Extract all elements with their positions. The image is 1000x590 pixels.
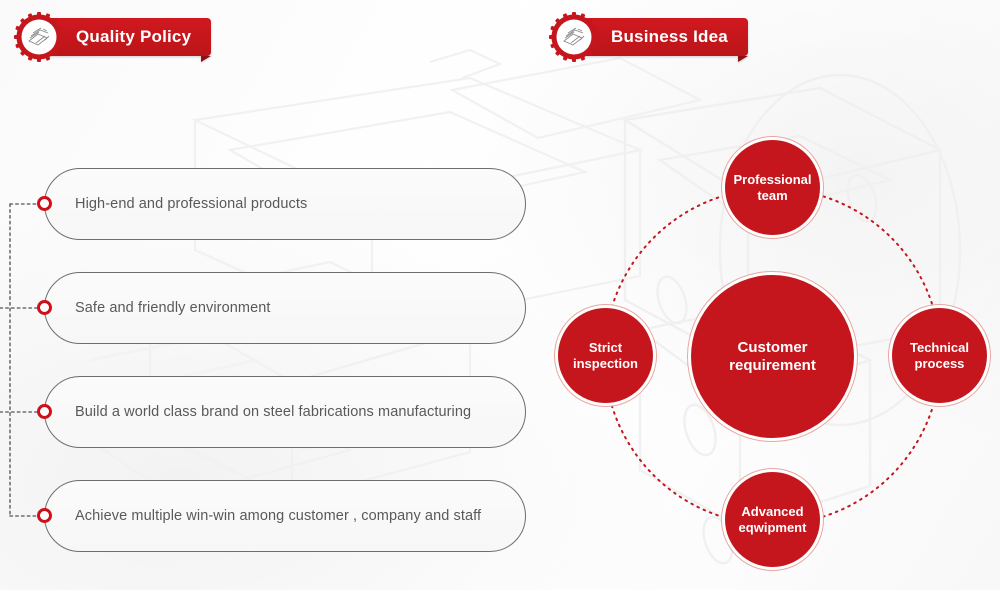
policy-item-label: Achieve multiple win-win among customer … (75, 508, 481, 524)
idea-node-line1: Technical (910, 340, 969, 355)
idea-node-center[interactable]: Customer requirement (691, 275, 854, 438)
idea-node-line1: Customer (737, 339, 807, 356)
business-idea-ribbon: Business Idea (573, 18, 748, 56)
idea-node-line2: process (915, 356, 965, 371)
policy-item-label: Build a world class brand on steel fabri… (75, 404, 471, 420)
quality-policy-title: Quality Policy (76, 27, 191, 47)
policy-marker-1 (37, 196, 52, 211)
policy-item-label: High-end and professional products (75, 196, 307, 212)
idea-node-strict-inspection[interactable]: Strict inspection (558, 308, 653, 403)
policy-item-1[interactable]: High-end and professional products (44, 168, 526, 240)
gear-sketch-icon (14, 12, 64, 62)
idea-node-label: Technical process (904, 340, 975, 371)
idea-node-line1: Strict (589, 340, 622, 355)
idea-node-label: Strict inspection (567, 340, 644, 371)
policy-item-3[interactable]: Build a world class brand on steel fabri… (44, 376, 526, 448)
idea-node-line2: requirement (729, 357, 816, 374)
idea-node-label: Customer requirement (723, 339, 822, 374)
idea-node-label: Advanced eqwipment (733, 504, 813, 535)
policy-marker-4 (37, 508, 52, 523)
business-idea-title: Business Idea (611, 27, 728, 47)
gear-sketch-icon (549, 12, 599, 62)
idea-node-line1: Advanced (741, 504, 803, 519)
policy-item-label: Safe and friendly environment (75, 300, 271, 316)
slide-canvas: Quality Policy (0, 0, 1000, 590)
idea-node-advanced-equipment[interactable]: Advanced eqwipment (725, 472, 820, 567)
idea-node-line2: inspection (573, 356, 638, 371)
quality-policy-list: High-end and professional products Safe … (0, 160, 540, 560)
policy-item-4[interactable]: Achieve multiple win-win among customer … (44, 480, 526, 552)
policy-marker-2 (37, 300, 52, 315)
business-idea-badge: Business Idea (549, 12, 748, 62)
business-idea-diagram: Customer requirement Professional team T… (540, 100, 1000, 580)
idea-node-label: Professional team (727, 172, 817, 203)
idea-node-line1: Professional (733, 172, 811, 187)
policy-marker-3 (37, 404, 52, 419)
quality-policy-badge: Quality Policy (14, 12, 211, 62)
policy-item-2[interactable]: Safe and friendly environment (44, 272, 526, 344)
idea-node-line2: eqwipment (739, 520, 807, 535)
idea-node-line2: team (757, 188, 787, 203)
idea-node-technical-process[interactable]: Technical process (892, 308, 987, 403)
idea-node-professional-team[interactable]: Professional team (725, 140, 820, 235)
